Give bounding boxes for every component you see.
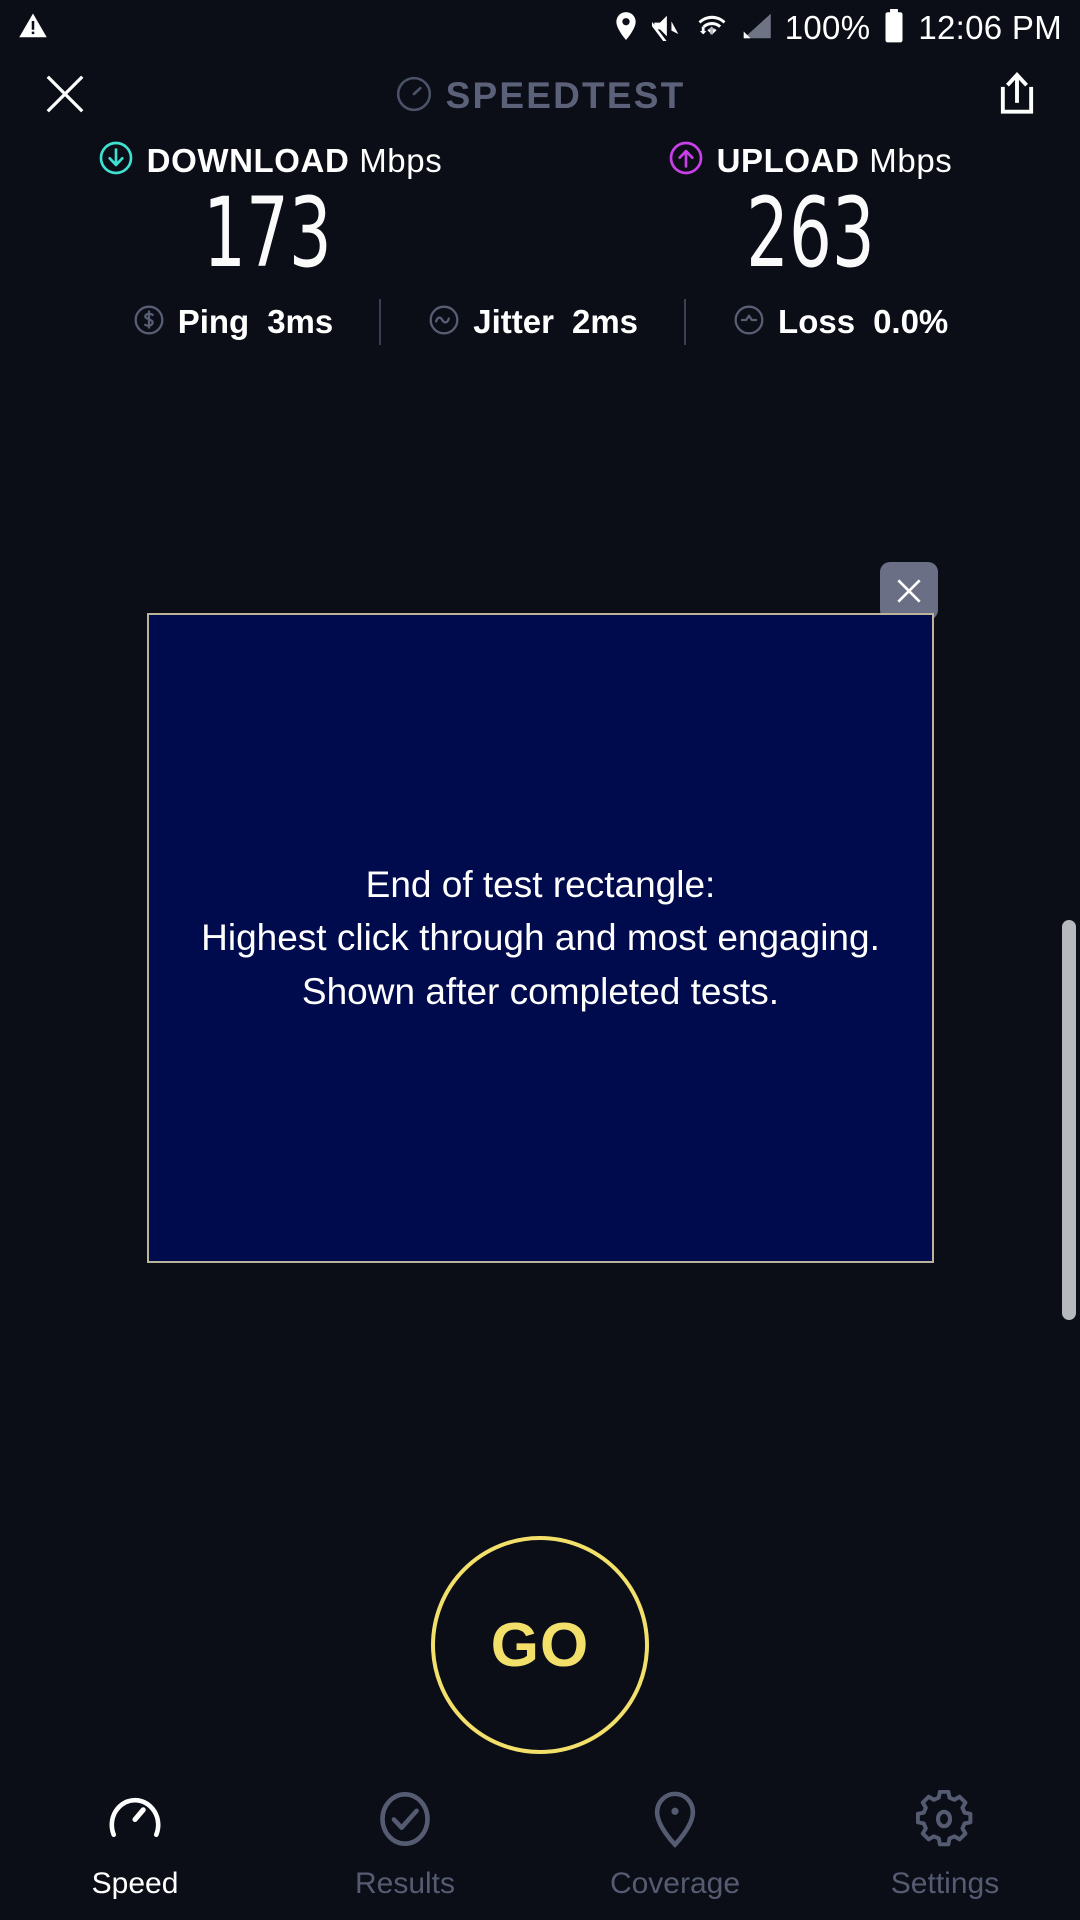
- ping-icon: [132, 303, 166, 342]
- stat-ping: Ping 3ms: [132, 303, 334, 342]
- upload-header: UPLOAD Mbps: [668, 140, 953, 181]
- network-stats-row: Ping 3ms Jitter 2ms Loss 0.0: [0, 299, 1080, 345]
- nav-label-results: Results: [355, 1867, 455, 1901]
- check-circle-icon: [376, 1790, 434, 1853]
- status-bar-right: 100% 12:06 PM: [613, 9, 1062, 48]
- cellular-signal-icon: [740, 11, 772, 46]
- nav-label-settings: Settings: [891, 1867, 999, 1901]
- gear-icon: [916, 1790, 974, 1853]
- status-bar-clock: 12:06 PM: [918, 9, 1062, 47]
- ad-line-3: Shown after completed tests.: [201, 965, 880, 1019]
- nav-item-results[interactable]: Results: [270, 1770, 540, 1920]
- arrow-up-circle-icon: [668, 140, 704, 181]
- wifi-data-icon: [697, 10, 727, 47]
- download-label: DOWNLOAD Mbps: [147, 142, 443, 180]
- results-panel: DOWNLOAD Mbps 173 UPLOAD Mbps 263: [0, 140, 1080, 345]
- download-header: DOWNLOAD Mbps: [98, 140, 443, 181]
- ad-banner[interactable]: End of test rectangle: Highest click thr…: [147, 613, 934, 1263]
- battery-percent-label: 100%: [785, 9, 871, 47]
- location-pin-icon: [613, 11, 639, 46]
- loss-label: Loss: [778, 303, 855, 341]
- upload-value: 263: [746, 185, 875, 281]
- battery-full-icon: [883, 9, 905, 48]
- upload-result: UPLOAD Mbps 263: [540, 140, 1080, 281]
- status-bar: 100% 12:06 PM: [0, 0, 1080, 56]
- loss-value: 0.0%: [873, 303, 948, 341]
- rate-row: DOWNLOAD Mbps 173 UPLOAD Mbps 263: [0, 140, 1080, 281]
- arrow-down-circle-icon: [98, 140, 134, 181]
- bottom-navigation: Speed Results Coverage Settings: [0, 1770, 1080, 1920]
- go-button-label: GO: [491, 1610, 589, 1681]
- ping-value: 3ms: [267, 303, 333, 341]
- page-title: SPEEDTEST: [446, 75, 686, 117]
- close-x-icon[interactable]: [42, 71, 88, 122]
- stat-divider: [684, 299, 686, 345]
- ad-close-icon[interactable]: [880, 562, 938, 620]
- ad-line-2: Highest click through and most engaging.: [201, 911, 880, 965]
- nav-label-coverage: Coverage: [610, 1867, 740, 1901]
- jitter-value: 2ms: [572, 303, 638, 341]
- app-header: SPEEDTEST: [0, 56, 1080, 136]
- share-icon[interactable]: [996, 71, 1038, 122]
- volume-muted-icon: [652, 11, 684, 46]
- vertical-scrollbar[interactable]: [1062, 920, 1076, 1320]
- jitter-label: Jitter: [473, 303, 554, 341]
- go-button[interactable]: GO: [431, 1536, 649, 1754]
- download-value: 173: [203, 185, 332, 281]
- nav-item-settings[interactable]: Settings: [810, 1770, 1080, 1920]
- speedometer-icon: [395, 75, 433, 118]
- stat-loss: Loss 0.0%: [732, 303, 948, 342]
- upload-label: UPLOAD Mbps: [717, 142, 953, 180]
- ping-label: Ping: [178, 303, 250, 341]
- ad-line-1: End of test rectangle:: [201, 858, 880, 912]
- download-result: DOWNLOAD Mbps 173: [0, 140, 540, 281]
- stat-jitter: Jitter 2ms: [427, 303, 638, 342]
- speedometer-icon: [106, 1790, 164, 1853]
- nav-item-coverage[interactable]: Coverage: [540, 1770, 810, 1920]
- stat-divider: [379, 299, 381, 345]
- nav-item-speed[interactable]: Speed: [0, 1770, 270, 1920]
- status-bar-left: [18, 11, 48, 46]
- map-pin-icon: [646, 1790, 704, 1853]
- nav-label-speed: Speed: [92, 1867, 179, 1901]
- warning-triangle-icon: [18, 11, 48, 46]
- loss-icon: [732, 303, 766, 342]
- jitter-icon: [427, 303, 461, 342]
- app-title-group: SPEEDTEST: [0, 75, 1080, 118]
- ad-text: End of test rectangle: Highest click thr…: [183, 858, 898, 1019]
